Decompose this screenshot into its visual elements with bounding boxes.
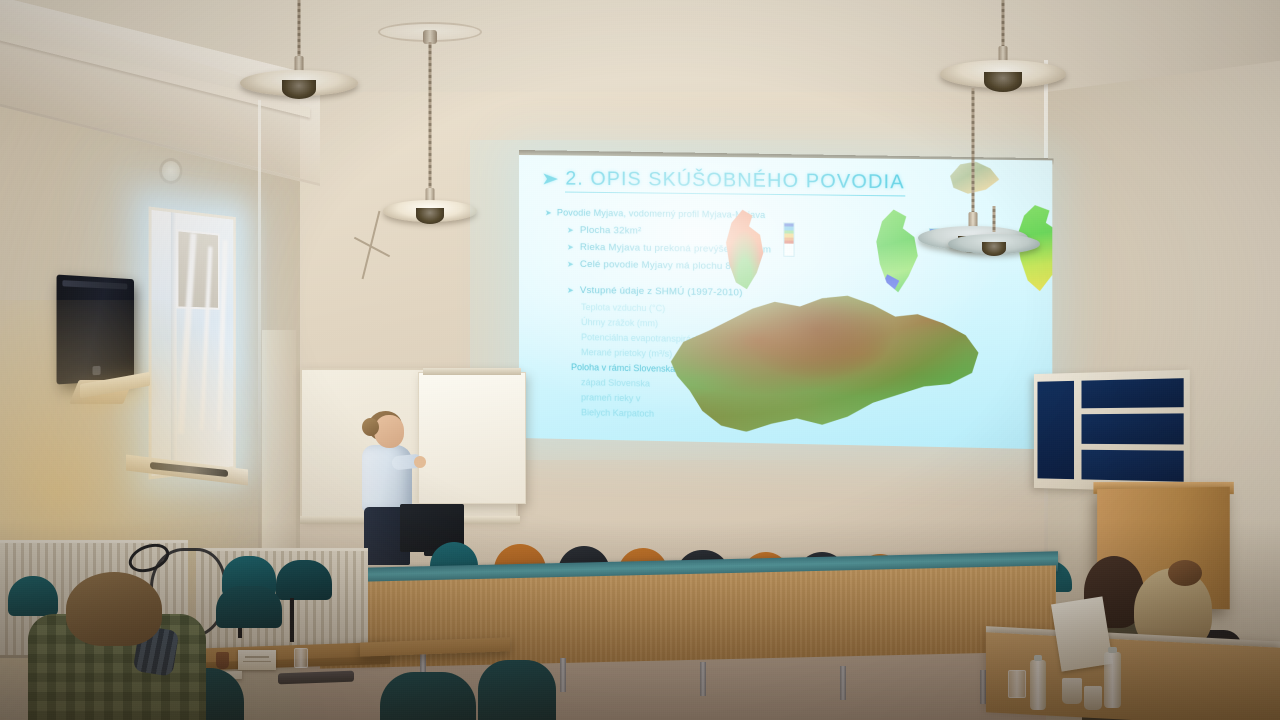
lamp-chain	[993, 206, 996, 232]
arrow-bullet-icon: ➤	[545, 208, 552, 217]
name-card-line	[245, 656, 269, 658]
bullet-level2: ➤Celé povodie Myjavy má plochu 806km²	[567, 259, 849, 274]
pendant-lamp	[378, 22, 482, 212]
water-bottle	[1104, 652, 1121, 708]
chair	[380, 672, 476, 720]
desk-leg	[840, 666, 846, 700]
flipchart	[418, 372, 526, 504]
noticeboard-panel	[1081, 413, 1183, 444]
chair	[216, 586, 282, 628]
attendee-hair-bun	[1168, 560, 1202, 586]
window-blind	[176, 229, 219, 310]
attendee-foreground-left	[28, 572, 206, 720]
coffee-cup	[216, 652, 229, 669]
pendant-lamp	[240, 0, 358, 110]
name-card-line	[243, 661, 271, 663]
lecture-hall-photo: ➤2. OPIS SKÚŠOBNÉHO POVODIA ➤Povodie Myj…	[0, 0, 1280, 720]
lamp-bulb-housing	[982, 242, 1006, 256]
presenter-hand	[414, 456, 426, 468]
lamp-bulb-housing	[416, 208, 444, 224]
wall-corner	[258, 100, 261, 560]
slide-title: ➤2. OPIS SKÚŠOBNÉHO POVODIA	[543, 167, 905, 194]
presenter-hair-bun	[362, 418, 379, 436]
speaker-grille	[62, 280, 127, 289]
chair	[276, 560, 332, 600]
flipchart-clip	[423, 368, 521, 375]
presenter-head	[374, 415, 404, 448]
bullet-level2: ➤Plocha 32km²	[567, 225, 849, 240]
noticeboard	[1034, 370, 1190, 493]
water-bottle	[1030, 660, 1046, 710]
arrow-bullet-icon: ➤	[567, 243, 574, 252]
attendee-hair	[66, 572, 162, 646]
desk-leg	[560, 658, 566, 692]
coffee-cup	[1084, 686, 1102, 710]
lamp-bulb-housing	[282, 80, 316, 99]
arrow-bullet-icon: ➤	[567, 260, 574, 269]
bullet-text: Vstupné údaje z SHMÚ (1997-2010)	[580, 285, 743, 299]
speaker-logo-icon	[92, 366, 100, 375]
lamp-chain	[429, 42, 432, 192]
window	[149, 206, 236, 479]
noticeboard-panel	[1081, 378, 1183, 408]
bottle-cap	[1108, 647, 1118, 653]
map-water-area	[882, 274, 899, 293]
lamp-chain	[972, 88, 975, 216]
desk-item-tray	[278, 671, 354, 685]
wall-speaker	[57, 275, 134, 385]
chair-leg	[290, 598, 294, 642]
door-jamb	[262, 330, 296, 580]
lamp-chain	[1002, 0, 1005, 52]
noticeboard-panel	[1081, 450, 1183, 482]
water-glass	[294, 648, 308, 668]
arrow-bullet-icon: ➤	[567, 286, 574, 295]
coffee-cup	[1062, 678, 1082, 704]
noticeboard-panel	[1038, 381, 1075, 479]
pendant-lamp	[948, 206, 1040, 276]
name-card	[238, 650, 276, 670]
slide-title-text: 2. OPIS SKÚŠOBNÉHO POVODIA	[565, 167, 904, 196]
arrow-bullet-icon: ➤	[567, 226, 574, 235]
bullet-text: Plocha 32km²	[580, 225, 641, 237]
wall-clock-icon	[159, 158, 182, 184]
water-glass	[1008, 670, 1026, 698]
bullet-level2: ➤Rieka Myjava tu prekoná prevýšenie 192m	[567, 242, 849, 257]
map-legend	[783, 222, 794, 257]
arrow-bullet-icon: ➤	[541, 169, 560, 189]
bullet-level1: ➤Povodie Myjava, vodomerný profil Myjava…	[545, 207, 849, 221]
bullet-text: Povodie Myjava, vodomerný profil Myjava-…	[557, 207, 766, 220]
lamp-chain	[298, 0, 301, 62]
chair	[478, 660, 556, 720]
desk-leg	[700, 662, 706, 696]
bottle-cap	[1034, 655, 1043, 661]
